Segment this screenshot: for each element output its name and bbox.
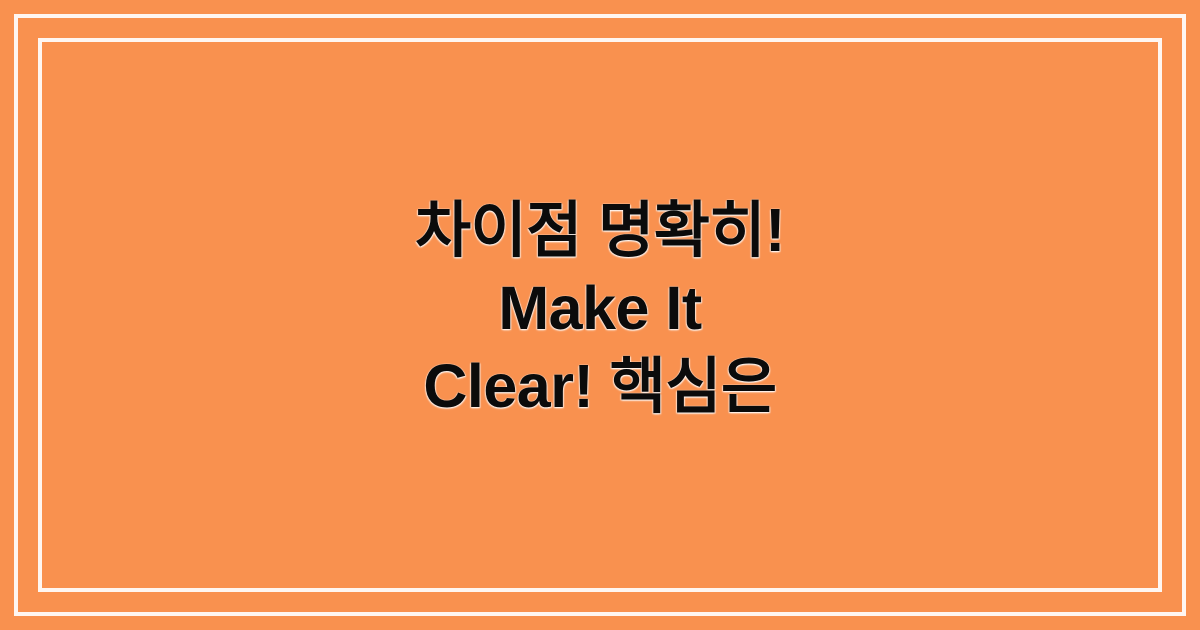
thumbnail-canvas: 차이점 명확히! Make It Clear! 핵심은 — [0, 0, 1200, 630]
headline-container: 차이점 명확히! Make It Clear! 핵심은 — [0, 0, 1200, 630]
headline-line-3: Clear! 핵심은 — [415, 347, 785, 425]
headline-line-1: 차이점 명확히! — [415, 191, 785, 269]
headline-line-2: Make It — [415, 269, 785, 347]
page-title: 차이점 명확히! Make It Clear! 핵심은 — [415, 191, 785, 425]
